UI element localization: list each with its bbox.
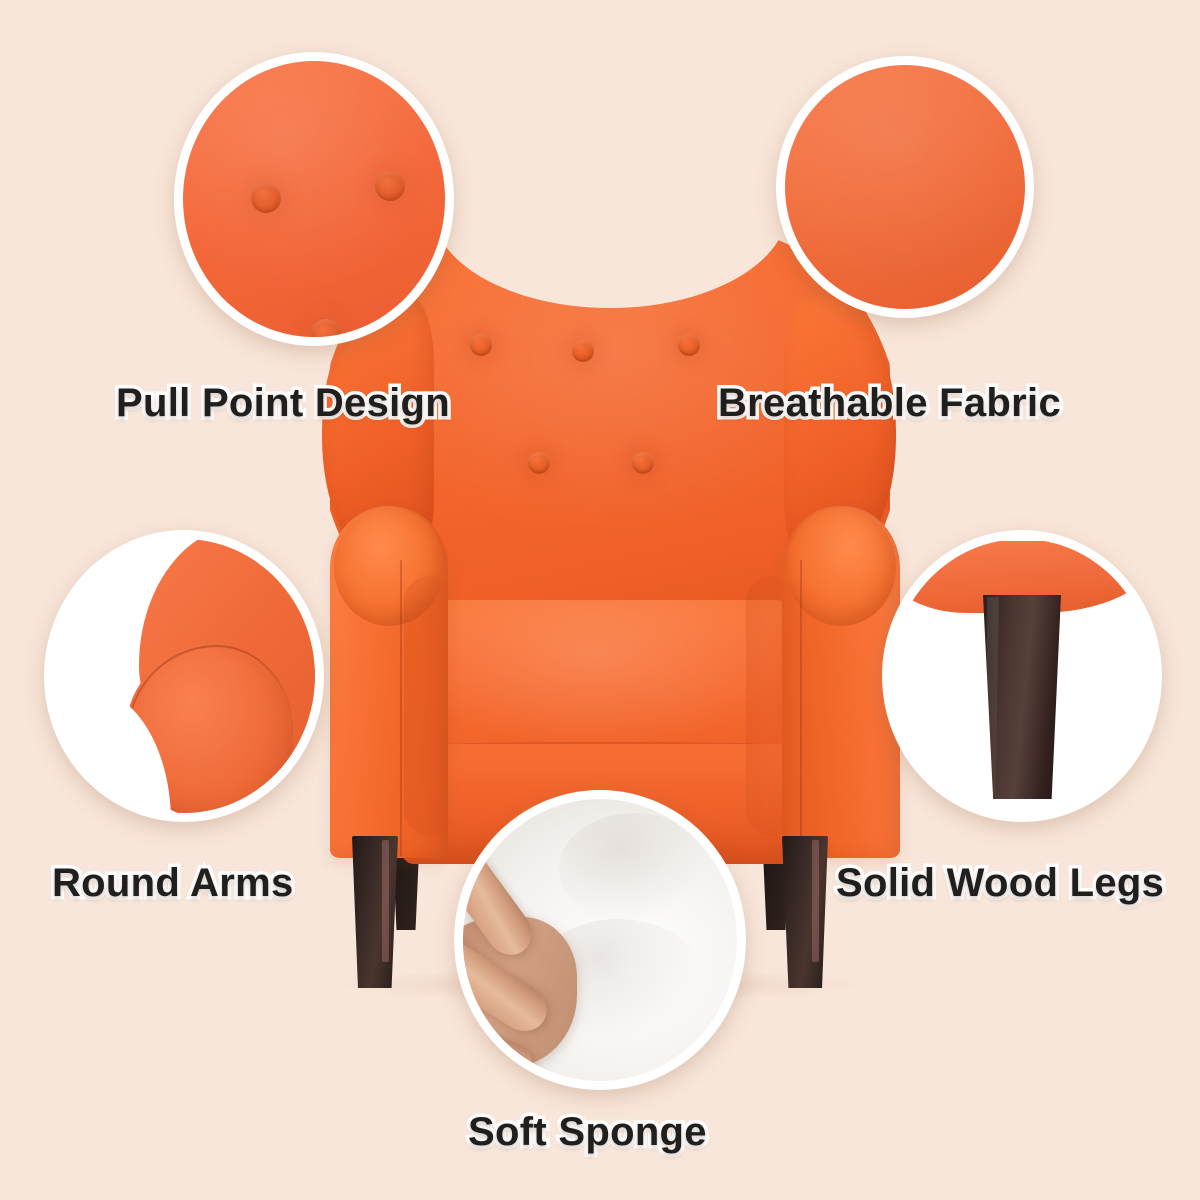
callout-bubble-breathable-fabric[interactable] xyxy=(776,56,1034,318)
feature-label-round-arms: Round Arms xyxy=(52,863,294,903)
feature-label-breathable-fabric: Breathable Fabric xyxy=(718,383,1061,423)
feature-label-soft-sponge: Soft Sponge xyxy=(468,1112,707,1152)
macro-tuft-2 xyxy=(375,171,405,201)
macro-tuft-3 xyxy=(311,319,341,337)
chair-arm-inner-right xyxy=(746,576,798,836)
tuft-button-1 xyxy=(470,334,492,356)
macro-tuft-1 xyxy=(251,183,281,213)
foam-indent-1 xyxy=(559,813,709,925)
chair-arm-inner-left xyxy=(404,576,456,836)
feature-label-pull-point: Pull Point Design xyxy=(116,383,450,423)
chair-leg-sheen-left xyxy=(382,840,389,962)
tuft-button-5 xyxy=(632,452,654,474)
chair-arm-roll-right xyxy=(786,508,896,626)
chair-leg-sheen-right xyxy=(812,840,819,962)
chair-leg-front-left xyxy=(352,836,398,988)
hand-pressing-foam-icon xyxy=(463,799,737,1081)
chair-leg-front-right xyxy=(782,836,828,988)
tuft-button-4 xyxy=(528,452,550,474)
tuft-button-2 xyxy=(572,340,594,362)
tapered-wood-leg-icon xyxy=(891,539,1153,813)
callout-bubble-soft-sponge[interactable] xyxy=(454,790,746,1090)
rolled-arm-profile-icon xyxy=(53,539,315,813)
callout-bubble-solid-wood-legs[interactable] xyxy=(882,530,1162,822)
callout-bubble-round-arms[interactable] xyxy=(44,530,324,822)
chair-arm-seam-left xyxy=(400,560,402,856)
tufted-button-macro-icon xyxy=(183,61,445,337)
chair-arm-seam-right xyxy=(800,560,802,856)
hand-fingernail-index xyxy=(463,840,475,879)
infographic-canvas: Pull Point Design Breathable Fabric Roun… xyxy=(0,0,1200,1200)
tuft-button-3 xyxy=(678,334,700,356)
woven-fabric-weave-macro-icon xyxy=(785,65,1025,309)
callout-bubble-pull-point[interactable] xyxy=(174,52,454,346)
feature-label-solid-wood-legs: Solid Wood Legs xyxy=(836,863,1164,903)
